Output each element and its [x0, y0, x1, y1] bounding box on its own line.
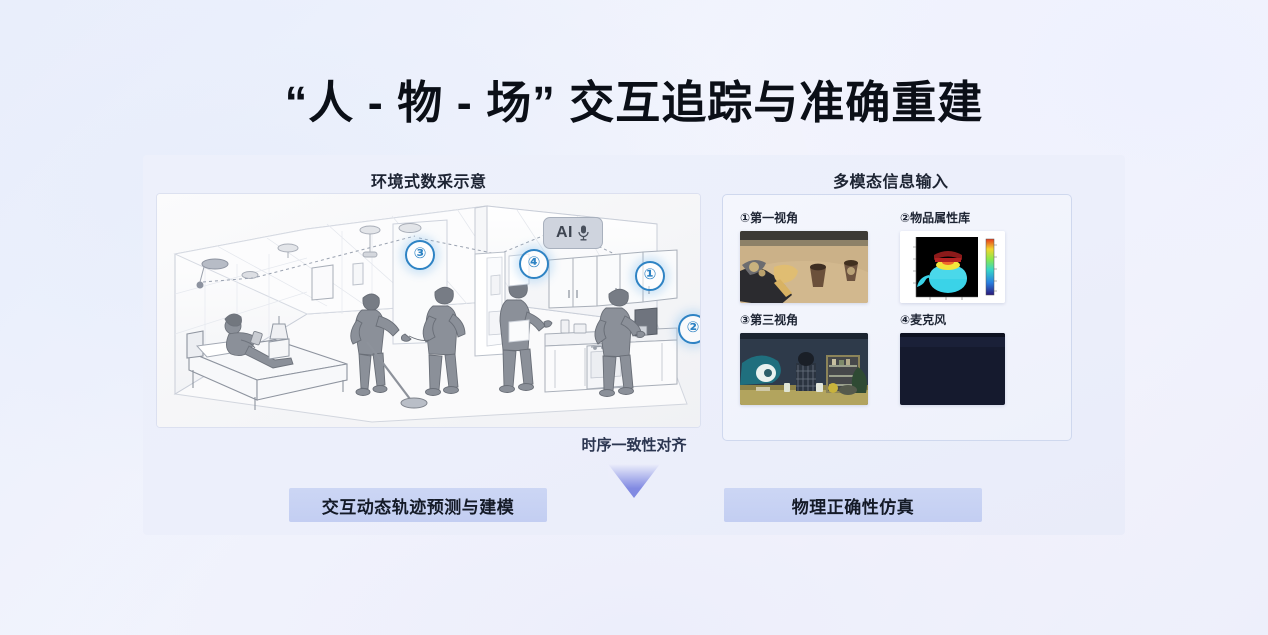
modality-card-third-person: ③第三视角 [740, 311, 883, 405]
slide-root: “人 - 物 - 场” 交互追踪与准确重建 环境式数采示意 多模态信息输入 [0, 0, 1268, 635]
thumbnail-third-person-view [740, 333, 868, 405]
room-illustration: ③ ④ ① ② AI [157, 194, 700, 427]
ai-assistant-badge: AI [543, 217, 603, 249]
section-header-left: 环境式数采示意 [371, 168, 487, 192]
temporal-alignment-label: 时序一致性对齐 [0, 434, 1268, 455]
microphone-icon [577, 224, 590, 242]
thumbnail-egocentric-view [740, 231, 868, 303]
thumbnail-microphone-audio [900, 333, 1005, 405]
ai-badge-label: AI [556, 224, 573, 242]
callout-marker-3: ③ [405, 240, 435, 270]
modality-label-4: ④麦克风 [900, 311, 1043, 328]
outcome-box-physics: 物理正确性仿真 [724, 488, 982, 522]
modality-card-first-person: ①第一视角 [740, 209, 883, 303]
section-header-right: 多模态信息输入 [833, 168, 949, 192]
modality-label-3: ③第三视角 [740, 311, 883, 328]
thumbnail-teapot-heatmap [900, 231, 1005, 303]
callout-marker-2: ② [678, 314, 700, 344]
callout-marker-4: ④ [519, 249, 549, 279]
modality-label-1: ①第一视角 [740, 209, 883, 226]
outcome-box-trajectory: 交互动态轨迹预测与建模 [289, 488, 547, 522]
modality-card-object-library: ②物品属性库 [900, 209, 1043, 303]
room-illustration-svg [157, 194, 700, 427]
down-arrow-icon [608, 464, 660, 498]
callout-marker-1: ① [635, 261, 665, 291]
page-title: “人 - 物 - 场” 交互追踪与准确重建 [0, 66, 1268, 131]
modality-label-2: ②物品属性库 [900, 209, 1043, 226]
modality-card-microphone: ④麦克风 [900, 311, 1043, 405]
multimodal-input-panel: ①第一视角 [722, 194, 1072, 441]
